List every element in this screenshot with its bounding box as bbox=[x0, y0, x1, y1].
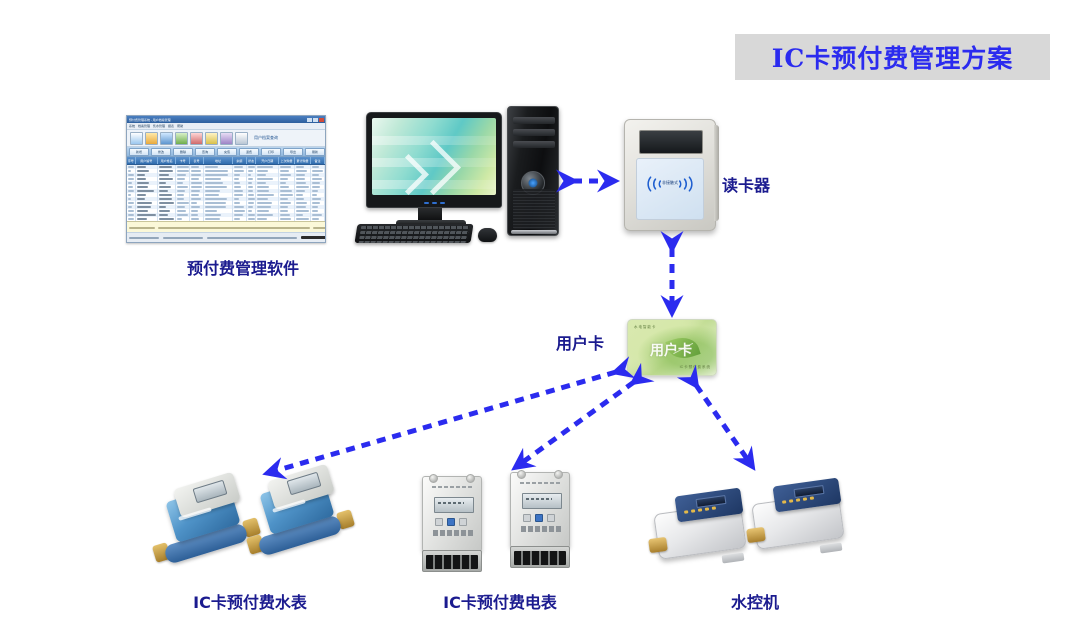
reader-lcd-display bbox=[639, 130, 703, 154]
status-spacer bbox=[207, 237, 297, 239]
status-footer-note bbox=[163, 237, 203, 239]
software-statusbar bbox=[127, 232, 326, 242]
meter-lcd-display bbox=[434, 497, 474, 513]
mouse[interactable] bbox=[478, 228, 497, 242]
data-grid-column-header[interactable]: 备注 bbox=[311, 157, 325, 164]
caption-prepaid-software: 预付费管理软件 bbox=[148, 255, 338, 279]
data-grid-column-header[interactable]: 余额 bbox=[233, 157, 247, 164]
recharge-icon[interactable] bbox=[205, 132, 218, 145]
delete-icon[interactable] bbox=[190, 132, 203, 145]
menu-item-1[interactable]: 档案管理 bbox=[138, 124, 150, 128]
button-edit[interactable]: 修改 bbox=[151, 148, 171, 156]
water-controller-unit-1 bbox=[650, 486, 754, 568]
data-grid-column-header[interactable]: 用户姓名 bbox=[158, 157, 176, 164]
keyboard[interactable] bbox=[354, 224, 473, 243]
user-card: 水 电 智 能 卡 用户卡 IC 卡 预 付 费 系 统 bbox=[627, 319, 717, 376]
add-user-icon[interactable] bbox=[175, 132, 188, 145]
button-refresh[interactable]: 刷新 bbox=[305, 148, 325, 156]
software-menubar[interactable]: 系统 档案管理 售水管理 报表 帮助 bbox=[127, 123, 325, 130]
card-micro-bottom-text: IC 卡 预 付 费 系 统 bbox=[680, 365, 710, 370]
screw-icon bbox=[554, 470, 563, 479]
toolbar-label: 用户档案查询 bbox=[254, 135, 278, 141]
menu-item-4[interactable]: 帮助 bbox=[177, 124, 183, 128]
caption-user-card: 用户卡 bbox=[556, 330, 604, 354]
title-banner: IC卡预付费管理方案 bbox=[735, 34, 1050, 80]
software-toolbar[interactable]: 用户档案查询 bbox=[127, 130, 325, 147]
diagram-canvas: IC卡预付费管理方案 预付费管理系统 - 用户档案管理 系统 档案管理 售水管理… bbox=[0, 0, 1066, 640]
meter-lcd-display bbox=[522, 493, 562, 509]
button-query[interactable]: 查询 bbox=[195, 148, 215, 156]
title-text: IC卡预付费管理方案 bbox=[772, 39, 1014, 75]
new-record-icon[interactable] bbox=[130, 132, 143, 145]
meter-keypad[interactable] bbox=[435, 517, 471, 526]
monitor bbox=[366, 112, 502, 208]
button-print[interactable]: 打印 bbox=[261, 148, 281, 156]
software-button-row[interactable]: 新增 修改 删除 查询 充值 退费 打印 导出 刷新 bbox=[127, 147, 325, 157]
connector-card-to-watermeter bbox=[268, 372, 616, 473]
caption-water-meter: IC卡预付费水表 bbox=[150, 589, 350, 613]
screw-icon bbox=[429, 474, 438, 483]
tower-vent-grill bbox=[513, 189, 555, 229]
button-new[interactable]: 新增 bbox=[129, 148, 149, 156]
data-grid-header-row: 序号用户编号用户姓名卡号表号地址余额状态开户日期上次购量累计购量备注 bbox=[127, 157, 325, 165]
meter-brand-text bbox=[520, 482, 562, 484]
button-refund[interactable]: 退费 bbox=[239, 148, 259, 156]
monitor-led-strip bbox=[419, 202, 449, 205]
menu-item-2[interactable]: 售水管理 bbox=[153, 124, 165, 128]
meter-brand-text bbox=[432, 486, 474, 488]
maximize-icon[interactable] bbox=[313, 118, 318, 122]
status-record-count bbox=[301, 236, 326, 239]
meter-terminal-block bbox=[510, 546, 570, 568]
reader-body: 非接触式 bbox=[624, 119, 716, 231]
save-icon[interactable] bbox=[160, 132, 173, 145]
electric-meter-unit-2 bbox=[502, 468, 580, 572]
data-grid-column-header[interactable]: 上次购量 bbox=[279, 157, 295, 164]
controller-mount-foot bbox=[722, 553, 745, 564]
search-field[interactable] bbox=[158, 227, 310, 229]
button-delete[interactable]: 删除 bbox=[173, 148, 193, 156]
device-group-water-controller bbox=[650, 476, 860, 576]
data-grid-column-header[interactable]: 序号 bbox=[127, 157, 136, 164]
device-group-electric-meter bbox=[414, 468, 584, 578]
screw-icon bbox=[466, 474, 475, 483]
screw-icon bbox=[517, 470, 526, 479]
software-window-title: 预付费管理系统 - 用户档案管理 bbox=[127, 118, 306, 122]
monitor-stand-neck bbox=[418, 208, 442, 220]
data-grid-column-header[interactable]: 表号 bbox=[190, 157, 204, 164]
water-controller-unit-2 bbox=[748, 476, 852, 558]
card-face-text: 用户卡 bbox=[650, 340, 692, 360]
status-label bbox=[129, 227, 155, 229]
meter-case bbox=[510, 472, 570, 548]
card-micro-top-text: 水 电 智 能 卡 bbox=[634, 325, 655, 330]
search-go-button[interactable] bbox=[313, 227, 326, 229]
caption-card-reader: 读卡器 bbox=[722, 172, 770, 196]
print-icon[interactable] bbox=[235, 132, 248, 145]
button-export[interactable]: 导出 bbox=[283, 148, 303, 156]
close-icon[interactable] bbox=[319, 118, 324, 122]
meter-case bbox=[422, 476, 482, 552]
water-meter-unit-1 bbox=[158, 478, 254, 570]
meter-terminal-block bbox=[422, 550, 482, 572]
prepaid-management-software-window[interactable]: 预付费管理系统 - 用户档案管理 系统 档案管理 售水管理 报表 帮助 用户档案… bbox=[126, 115, 326, 243]
card-reader-device: 非接触式 bbox=[624, 119, 716, 231]
controller-mount-foot bbox=[820, 543, 843, 554]
meter-spec-label bbox=[433, 530, 473, 536]
data-grid-column-header[interactable]: 累计购量 bbox=[295, 157, 311, 164]
electric-meter-unit-1 bbox=[414, 472, 492, 576]
status-ready-text bbox=[129, 237, 159, 239]
data-grid-column-header[interactable]: 卡号 bbox=[176, 157, 190, 164]
desktop-computer bbox=[352, 104, 567, 250]
brass-nut-icon bbox=[648, 537, 668, 553]
reader-rf-label: 非接触式 bbox=[662, 180, 678, 186]
data-grid-column-header[interactable]: 开户日期 bbox=[256, 157, 279, 164]
data-grid-column-header[interactable]: 状态 bbox=[247, 157, 257, 164]
software-titlebar: 预付费管理系统 - 用户档案管理 bbox=[127, 116, 325, 123]
reader-side-edge bbox=[714, 125, 719, 221]
menu-item-0[interactable]: 系统 bbox=[129, 124, 135, 128]
caption-electric-meter: IC卡预付费电表 bbox=[400, 589, 600, 613]
device-group-water-meter bbox=[158, 470, 348, 580]
minimize-icon[interactable] bbox=[307, 118, 312, 122]
report-icon[interactable] bbox=[220, 132, 233, 145]
data-grid-column-header[interactable]: 用户编号 bbox=[136, 157, 159, 164]
open-folder-icon[interactable] bbox=[145, 132, 158, 145]
data-grid-column-header[interactable]: 地址 bbox=[204, 157, 233, 164]
caption-water-controller: 水控机 bbox=[680, 589, 830, 613]
meter-spec-label bbox=[521, 526, 561, 532]
menu-item-3[interactable]: 报表 bbox=[168, 124, 174, 128]
monitor-screen bbox=[372, 118, 496, 195]
connector-card-to-elecmeter bbox=[516, 382, 634, 467]
computer-tower bbox=[507, 106, 559, 236]
button-recharge[interactable]: 充值 bbox=[217, 148, 237, 156]
connector-card-to-controller bbox=[696, 385, 752, 466]
meter-keypad[interactable] bbox=[523, 513, 559, 522]
reader-rfid-pad[interactable]: 非接触式 bbox=[636, 158, 704, 220]
brass-nut-icon bbox=[746, 527, 766, 543]
water-meter-unit-2 bbox=[252, 470, 348, 562]
